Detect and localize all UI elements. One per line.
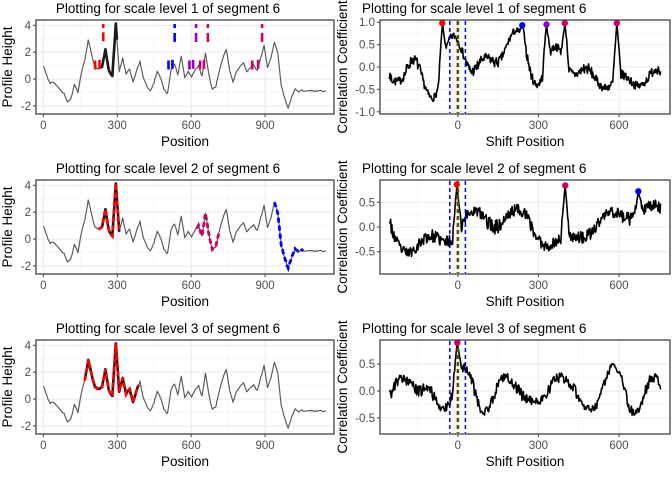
panel-scale-1-profile: Plotting for scale level 1 of segment 6 … [0, 0, 336, 160]
svg-text:300: 300 [529, 120, 548, 132]
panel-title: Plotting for scale level 1 of segment 6 [362, 1, 672, 16]
svg-text:-1.0: -1.0 [355, 107, 375, 119]
svg-text:900: 900 [255, 120, 274, 132]
svg-text:4: 4 [25, 340, 32, 352]
svg-text:900: 900 [255, 440, 274, 452]
svg-text:0: 0 [40, 280, 46, 292]
svg-text:0: 0 [455, 280, 461, 292]
svg-text:4: 4 [25, 20, 32, 32]
panel-title: Plotting for scale level 2 of segment 6 [0, 161, 336, 176]
svg-text:600: 600 [609, 120, 628, 132]
panel-scale-2-profile: Plotting for scale level 2 of segment 6 … [0, 160, 336, 320]
svg-text:Position: Position [161, 294, 209, 309]
svg-text:600: 600 [182, 280, 201, 292]
svg-text:0.5: 0.5 [359, 197, 375, 209]
svg-text:-0.5: -0.5 [355, 84, 375, 96]
panel-scale-1-correlation: Plotting for scale level 1 of segment 6 … [336, 0, 672, 160]
svg-text:-0.5: -0.5 [355, 413, 375, 425]
panel-title: Plotting for scale level 3 of segment 6 [0, 321, 336, 336]
svg-text:300: 300 [529, 440, 548, 452]
plot-grid: Plotting for scale level 1 of segment 6 … [0, 0, 672, 480]
svg-text:Profile Height: Profile Height [0, 346, 15, 427]
svg-text:300: 300 [108, 120, 127, 132]
panel-title: Plotting for scale level 1 of segment 6 [0, 1, 336, 16]
svg-text:0: 0 [455, 120, 461, 132]
svg-text:0.5: 0.5 [359, 40, 375, 52]
svg-text:0: 0 [455, 440, 461, 452]
panel-title: Plotting for scale level 3 of segment 6 [362, 321, 672, 336]
svg-text:0.0: 0.0 [359, 222, 375, 234]
svg-text:300: 300 [108, 440, 127, 452]
svg-text:600: 600 [609, 280, 628, 292]
svg-text:600: 600 [609, 440, 628, 452]
svg-text:1.0: 1.0 [359, 17, 375, 29]
svg-text:Profile Height: Profile Height [0, 26, 15, 107]
panel-scale-3-correlation: Plotting for scale level 3 of segment 6 … [336, 320, 672, 480]
svg-text:-0.5: -0.5 [355, 247, 375, 259]
svg-text:Correlation Coefficient: Correlation Coefficient [336, 0, 350, 134]
svg-text:2: 2 [25, 367, 31, 379]
svg-text:-2: -2 [21, 261, 31, 273]
correlation-chart-scale-2: -0.50.00.50300600Shift PositionCorrelati… [336, 160, 672, 320]
svg-text:600: 600 [182, 440, 201, 452]
svg-text:0.5: 0.5 [359, 359, 375, 371]
svg-text:0: 0 [25, 234, 31, 246]
svg-text:0: 0 [40, 120, 46, 132]
svg-text:900: 900 [255, 280, 274, 292]
correlation-chart-scale-1: -1.0-0.50.00.51.00300600Shift PositionCo… [336, 0, 672, 160]
svg-text:Correlation Coefficient: Correlation Coefficient [336, 160, 350, 294]
svg-text:-2: -2 [21, 101, 31, 113]
profile-chart-scale-2: -20240300600900PositionProfile Height [0, 160, 336, 320]
svg-text:0: 0 [25, 394, 31, 406]
svg-text:Position: Position [161, 454, 209, 469]
svg-text:600: 600 [182, 120, 201, 132]
svg-text:Shift Position: Shift Position [486, 294, 565, 309]
svg-text:300: 300 [108, 280, 127, 292]
svg-text:2: 2 [25, 207, 31, 219]
svg-text:0: 0 [25, 74, 31, 86]
svg-text:Shift Position: Shift Position [486, 454, 565, 469]
svg-text:Profile Height: Profile Height [0, 186, 15, 267]
panel-title: Plotting for scale level 2 of segment 6 [362, 161, 672, 176]
svg-text:2: 2 [25, 47, 31, 59]
svg-text:-2: -2 [21, 421, 31, 433]
svg-text:0: 0 [40, 440, 46, 452]
panel-scale-2-correlation: Plotting for scale level 2 of segment 6 … [336, 160, 672, 320]
profile-chart-scale-3: -20240300600900PositionProfile Height [0, 320, 336, 480]
svg-text:4: 4 [25, 180, 32, 192]
svg-text:Position: Position [161, 134, 209, 149]
svg-text:Shift Position: Shift Position [486, 134, 565, 149]
profile-chart-scale-1: -20240300600900PositionProfile Height [0, 0, 336, 160]
panel-scale-3-profile: Plotting for scale level 3 of segment 6 … [0, 320, 336, 480]
svg-text:0.0: 0.0 [359, 386, 375, 398]
correlation-chart-scale-3: -0.50.00.50300600Shift PositionCorrelati… [336, 320, 672, 480]
svg-text:300: 300 [529, 280, 548, 292]
svg-text:0.0: 0.0 [359, 62, 375, 74]
svg-text:Correlation Coefficient: Correlation Coefficient [336, 320, 350, 454]
